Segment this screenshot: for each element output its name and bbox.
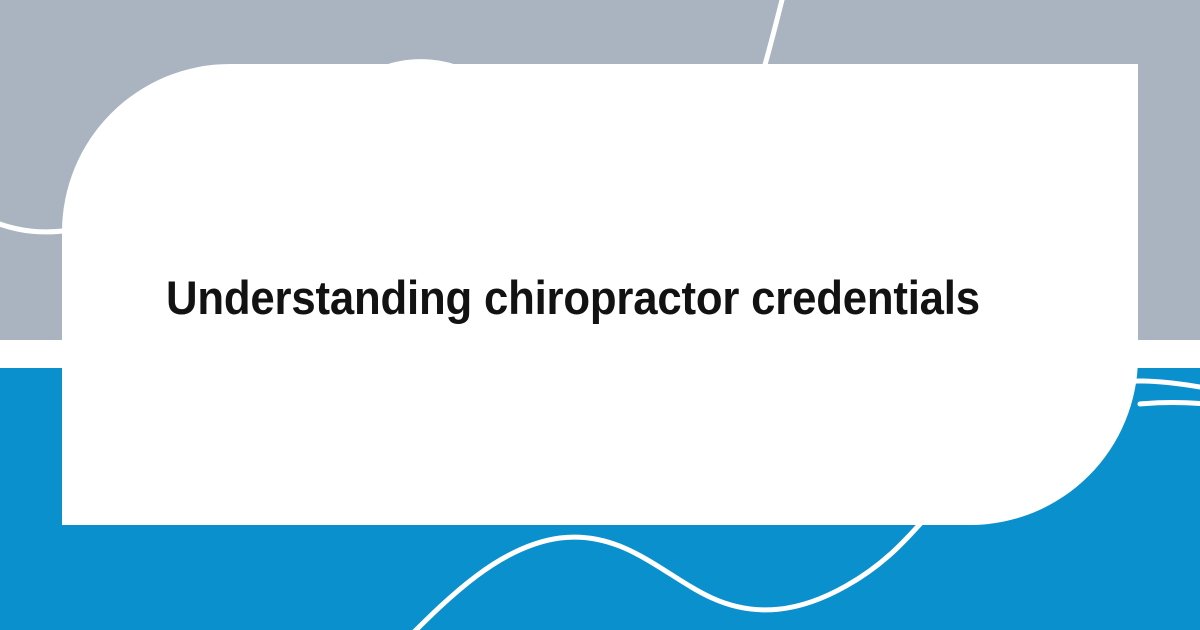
title-block: Understanding chiropractor credentials	[166, 270, 1106, 325]
social-share-banner: Understanding chiropractor credentials	[0, 0, 1200, 630]
content-card: Understanding chiropractor credentials	[62, 64, 1138, 525]
page-title: Understanding chiropractor credentials	[166, 270, 1040, 325]
